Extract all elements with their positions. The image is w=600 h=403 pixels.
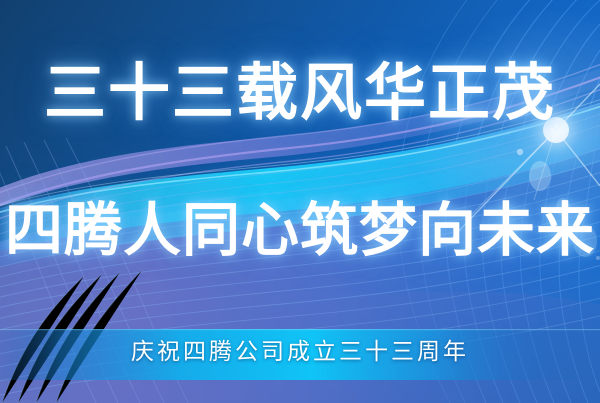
subtitle-band-top-edge [0, 329, 600, 330]
subtitle-band-layer [0, 0, 600, 403]
celebration-banner: 三十三载风华正茂 四腾人同心筑梦向未来 庆祝四腾公司成立三十三周年 [0, 0, 600, 403]
subtitle-gradient-band [0, 329, 600, 380]
